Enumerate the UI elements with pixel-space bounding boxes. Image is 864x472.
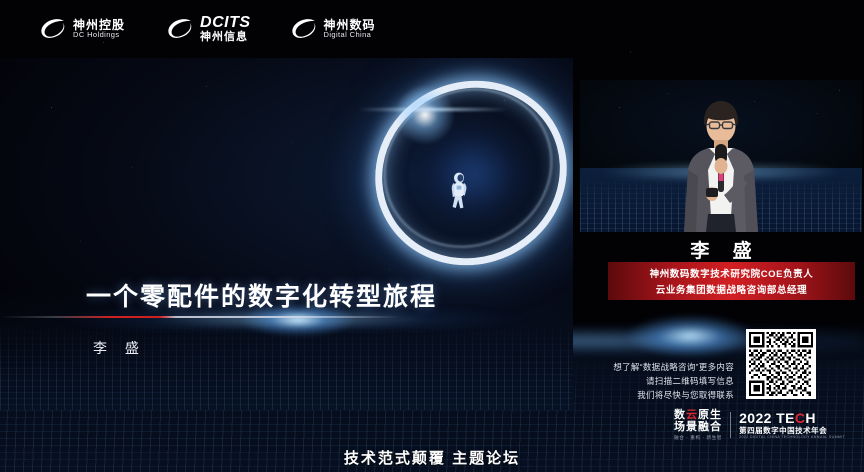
slide-artwork <box>352 64 573 264</box>
logo-cn-text: 神州信息 <box>200 32 251 44</box>
presentation-screen: 神州控股 DC Holdings DCITS 神州信息 神州数码 Digital… <box>0 0 864 472</box>
swoosh-icon <box>40 18 66 40</box>
event-divider <box>730 412 731 438</box>
event-slogan-line-2: 场景融合 <box>674 422 722 434</box>
swoosh-icon <box>291 18 317 40</box>
sponsor-logo-bar: 神州控股 DC Holdings DCITS 神州信息 神州数码 Digital… <box>0 0 864 58</box>
slide-divider <box>0 316 400 318</box>
qr-caption-line-2: 请扫描二维码填写信息 <box>612 374 734 388</box>
presenter-figure <box>668 88 774 232</box>
logo-en-text: DC Holdings <box>73 31 125 39</box>
qr-code-matrix <box>749 332 813 396</box>
event-title-en: 2022 DIGITAL CHINA TECHNOLOGY ANNUAL SUM… <box>739 436 845 440</box>
qr-code-icon[interactable] <box>746 329 816 399</box>
logo-brand-text: DCITS <box>200 15 251 32</box>
astronaut-icon <box>448 172 470 216</box>
lens-flare-icon <box>382 72 468 158</box>
logo-dcits: DCITS 神州信息 <box>167 15 251 43</box>
speaker-title-line-1: 神州数码数字技术研究院COE负责人 <box>650 266 814 280</box>
event-title-main: 2022 TECH <box>739 411 845 426</box>
event-slogan-logo: 数云原生 场景融合 融合 · 重构 · 新生智 <box>674 410 722 441</box>
forum-title-bar: 技术范式颠覆 主题论坛 <box>0 447 864 468</box>
speaker-name: 李 盛 <box>580 236 862 263</box>
slide-data-grid <box>0 320 573 410</box>
logo-digital-china: 神州数码 Digital China <box>291 18 376 40</box>
event-slogan-sub: 融合 · 重构 · 新生智 <box>674 436 722 441</box>
qr-caption: 想了解“数据战略咨询”更多内容 请扫描二维码填写信息 我们将尽快与您取得联系 <box>612 360 734 402</box>
flare-streak <box>358 108 508 111</box>
slide-title: 一个零配件的数字化转型旅程 <box>86 277 437 313</box>
logo-en-text: Digital China <box>324 31 376 39</box>
slide-speaker-name: 李 盛 <box>93 338 146 358</box>
qr-caption-line-3: 我们将尽快与您取得联系 <box>612 388 734 402</box>
event-branding: 数云原生 场景融合 融合 · 重构 · 新生智 2022 TECH 第四届数字中… <box>674 410 845 441</box>
speaker-title-banner: 神州数码数字技术研究院COE负责人 云业务集团数据战略咨询部总经理 <box>608 262 855 300</box>
slide-area: 一个零配件的数字化转型旅程 李 盛 <box>0 58 573 410</box>
speaker-title-line-2: 云业务集团数据战略咨询部总经理 <box>656 282 808 296</box>
event-summit-logo: 2022 TECH 第四届数字中国技术年会 2022 DIGITAL CHINA… <box>739 411 845 440</box>
logo-dc-holdings: 神州控股 DC Holdings <box>40 18 125 40</box>
qr-caption-line-1: 想了解“数据战略咨询”更多内容 <box>612 360 734 374</box>
swoosh-icon <box>167 18 193 40</box>
event-title-cn: 第四届数字中国技术年会 <box>739 427 845 435</box>
speaker-video-feed <box>580 80 862 232</box>
